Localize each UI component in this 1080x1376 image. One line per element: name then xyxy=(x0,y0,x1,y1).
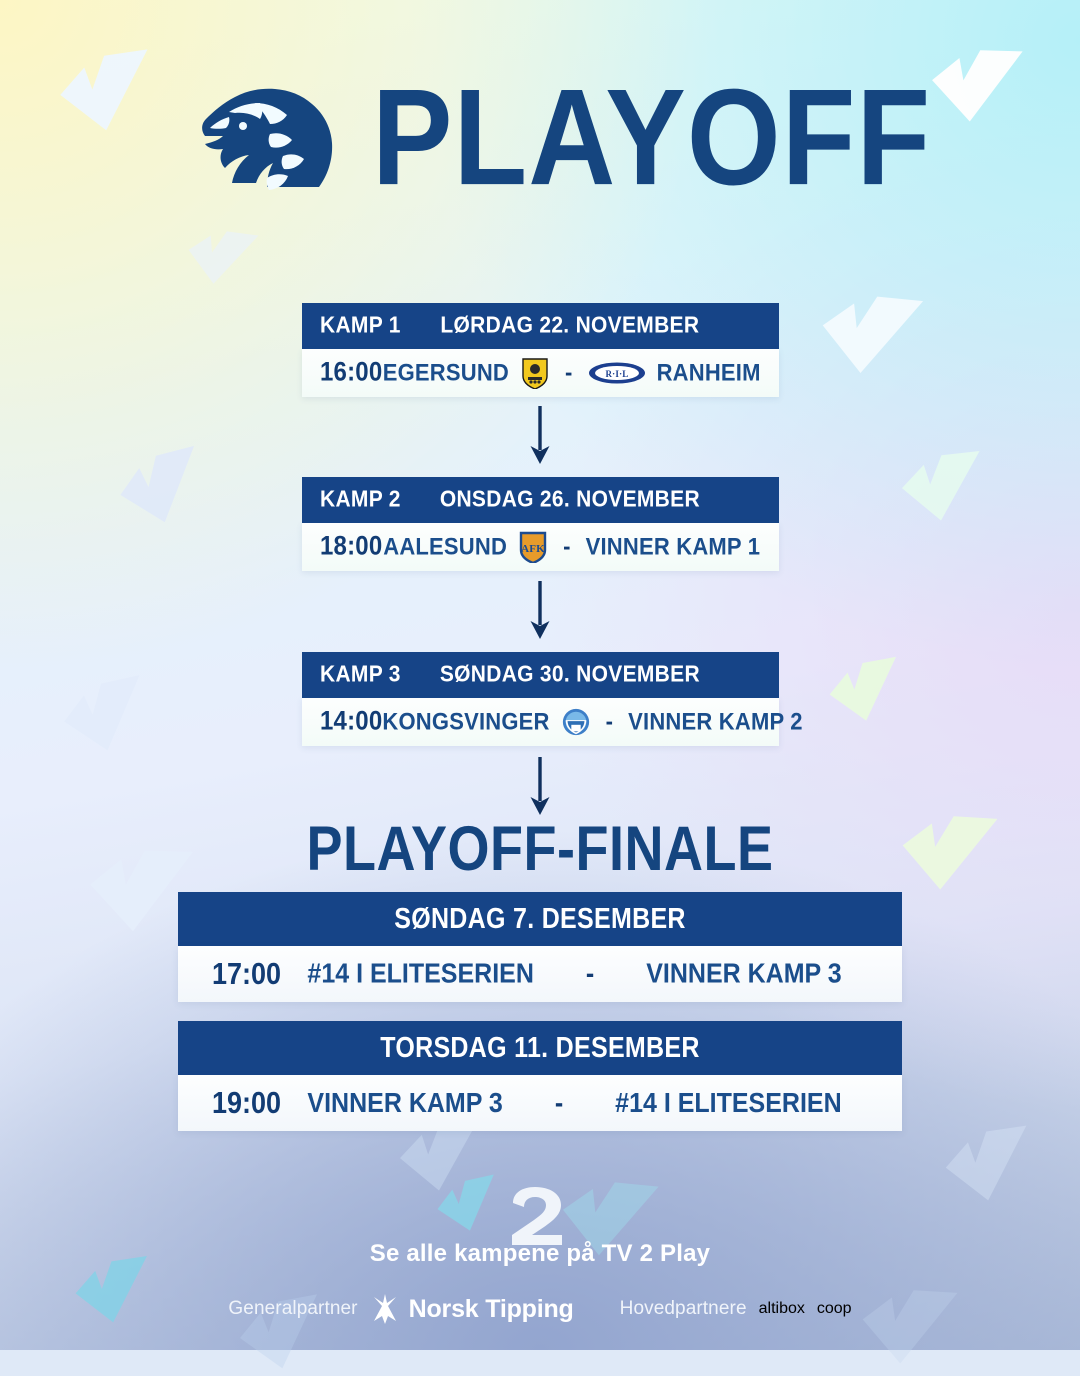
tv2-two-logo xyxy=(0,1185,1080,1247)
lion-head-icon xyxy=(171,72,346,202)
match-date: ONSDAG 26. NOVEMBER xyxy=(401,487,761,514)
general-partner-label: Generalpartner xyxy=(228,1298,357,1320)
coop-logo: coop xyxy=(817,1300,852,1318)
fixture-separator: - xyxy=(559,533,575,561)
away-team-name: VINNER KAMP 2 xyxy=(628,708,803,736)
match-label: KAMP 2 xyxy=(320,487,401,514)
finale-fixture: #14 I ELITESERIEN - VINNER KAMP 3 xyxy=(281,958,868,990)
match-time: 18:00 xyxy=(320,532,382,563)
norsk-tipping-brand: Norsk Tipping xyxy=(409,1295,574,1324)
main-partners-label: Hovedpartnere xyxy=(620,1298,747,1320)
away-team-name: VINNER KAMP 3 xyxy=(646,958,841,990)
match-fixture: KONGSVINGER - VINNER KAMP 2 xyxy=(382,706,802,738)
home-team-name: EGERSUND xyxy=(383,359,509,387)
match-card-1[interactable]: KAMP 1 LØRDAG 22. NOVEMBER 16:00 EGERSUN… xyxy=(302,303,779,397)
match-fixture: AALESUND AFK - VINNER KAMP 1 xyxy=(382,531,761,563)
finale-date: SØNDAG 7. DESEMBER xyxy=(394,902,686,935)
match-card-body: 18:00 AALESUND AFK - VINNER KAMP 1 xyxy=(302,523,779,571)
flow-arrow-icon xyxy=(0,406,1080,468)
match-card-body: 16:00 EGERSUND - xyxy=(302,349,779,397)
norsk-tipping-logo: Norsk Tipping xyxy=(370,1294,574,1324)
home-team-name: KONGSVINGER xyxy=(382,708,549,736)
home-team-name: VINNER KAMP 3 xyxy=(307,1087,502,1119)
finale-date: TORSDAG 11. DESEMBER xyxy=(380,1031,700,1064)
match-card-body: 14:00 KONGSVINGER - VINNER KAMP 2 xyxy=(302,698,779,746)
general-partner-group: Generalpartner Norsk Tipping xyxy=(228,1294,573,1324)
page-title: PLAYOFF xyxy=(372,72,931,202)
finale-card-1[interactable]: SØNDAG 7. DESEMBER 17:00 #14 I ELITESERI… xyxy=(178,892,902,1002)
svg-text:AFK: AFK xyxy=(521,543,545,555)
altibox-logo: altibox xyxy=(759,1300,805,1318)
finale-card-2[interactable]: TORSDAG 11. DESEMBER 19:00 VINNER KAMP 3… xyxy=(178,1021,902,1131)
watch-text: Se alle kampene på TV 2 Play xyxy=(0,1240,1080,1268)
page-header: PLAYOFF xyxy=(0,72,1080,202)
ranheim-crest-icon: R·I·L xyxy=(588,361,646,385)
match-fixture: EGERSUND - R·I·L xyxy=(382,357,761,389)
egersund-crest-icon xyxy=(520,357,550,389)
svg-text:R·I·L: R·I·L xyxy=(605,369,628,379)
away-team-name: VINNER KAMP 1 xyxy=(586,533,761,561)
finale-card-header: TORSDAG 11. DESEMBER xyxy=(178,1021,902,1075)
match-label: KAMP 3 xyxy=(320,662,401,689)
fixture-separator: - xyxy=(602,708,618,736)
flow-arrow-icon xyxy=(0,757,1080,819)
match-date: LØRDAG 22. NOVEMBER xyxy=(401,313,761,340)
match-card-2[interactable]: KAMP 2 ONSDAG 26. NOVEMBER 18:00 AALESUN… xyxy=(302,477,779,571)
finale-card-body: 17:00 #14 I ELITESERIEN - VINNER KAMP 3 xyxy=(178,946,902,1002)
match-card-header: KAMP 2 ONSDAG 26. NOVEMBER xyxy=(302,477,779,523)
finale-card-body: 19:00 VINNER KAMP 3 - #14 I ELITESERIEN xyxy=(178,1075,902,1131)
away-team-name: #14 I ELITESERIEN xyxy=(615,1087,841,1119)
fixture-separator: - xyxy=(555,1087,563,1119)
match-date: SØNDAG 30. NOVEMBER xyxy=(401,662,761,689)
kongsvinger-crest-icon xyxy=(561,706,591,738)
away-team-name: RANHEIM xyxy=(657,359,761,387)
aalesund-crest-icon: AFK xyxy=(518,531,548,563)
home-team-name: #14 I ELITESERIEN xyxy=(307,958,533,990)
finale-time: 17:00 xyxy=(212,957,281,992)
main-partners-group: Hovedpartnere altibox coop xyxy=(620,1298,852,1320)
match-card-header: KAMP 3 SØNDAG 30. NOVEMBER xyxy=(302,652,779,698)
match-card-3[interactable]: KAMP 3 SØNDAG 30. NOVEMBER 14:00 KONGSVI… xyxy=(302,652,779,746)
norsk-tipping-x-icon xyxy=(370,1294,400,1324)
match-card-header: KAMP 1 LØRDAG 22. NOVEMBER xyxy=(302,303,779,349)
finale-title: PLAYOFF-FINALE xyxy=(0,813,1080,885)
finale-time: 19:00 xyxy=(212,1086,281,1121)
sponsor-bar: Generalpartner Norsk Tipping Hovedpartne… xyxy=(0,1294,1080,1324)
finale-fixture: VINNER KAMP 3 - #14 I ELITESERIEN xyxy=(281,1087,868,1119)
fixture-separator: - xyxy=(586,958,594,990)
match-label: KAMP 1 xyxy=(320,313,401,340)
fixture-separator: - xyxy=(561,359,577,387)
flow-arrow-icon xyxy=(0,581,1080,643)
home-team-name: AALESUND xyxy=(383,533,507,561)
finale-card-header: SØNDAG 7. DESEMBER xyxy=(178,892,902,946)
match-time: 14:00 xyxy=(320,707,382,738)
match-time: 16:00 xyxy=(320,358,382,389)
